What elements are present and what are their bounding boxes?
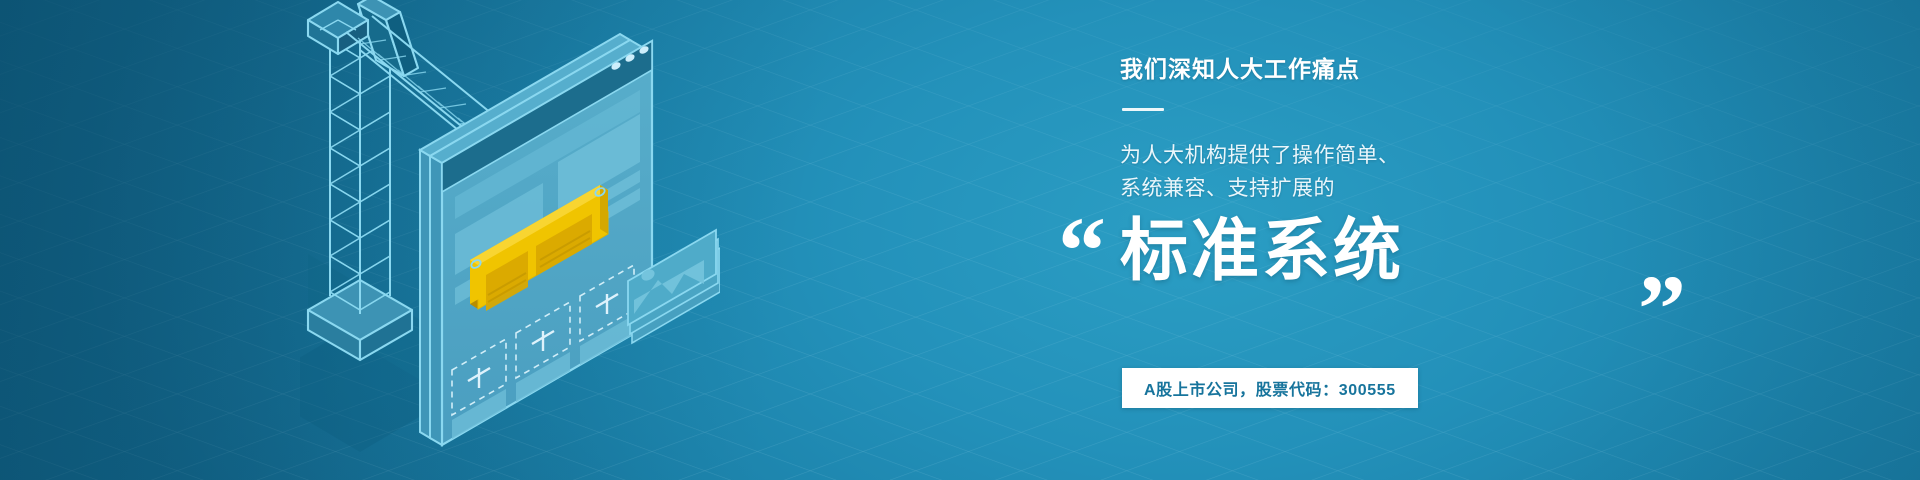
illustration-crane-webpage [300,0,720,480]
stock-badge: A股上市公司，股票代码：300555 [1122,368,1418,408]
hero-subtitle: 为人大机构提供了操作简单、 系统兼容、支持扩展的 [1120,139,1590,205]
crane-counterweight [358,0,418,76]
hero-headline-wrap: “ 标准系统 ” [1120,211,1590,323]
quote-close-icon: ” [1638,261,1686,357]
hero-banner: 我们深知人大工作痛点 为人大机构提供了操作简单、 系统兼容、支持扩展的 “ 标准… [0,0,1920,480]
quote-open-icon: “ [1058,203,1106,299]
hero-kicker: 我们深知人大工作痛点 [1120,56,1590,84]
hero-subtitle-line-2: 系统兼容、支持扩展的 [1120,172,1590,205]
hero-subtitle-line-1: 为人大机构提供了操作简单、 [1120,139,1590,172]
hero-headline: 标准系统 [1120,211,1404,293]
hero-divider [1122,108,1164,111]
background-vignette [0,0,1920,480]
hero-copy: 我们深知人大工作痛点 为人大机构提供了操作简单、 系统兼容、支持扩展的 “ 标准… [1120,56,1590,323]
stock-badge-text: A股上市公司，股票代码：300555 [1144,376,1396,400]
